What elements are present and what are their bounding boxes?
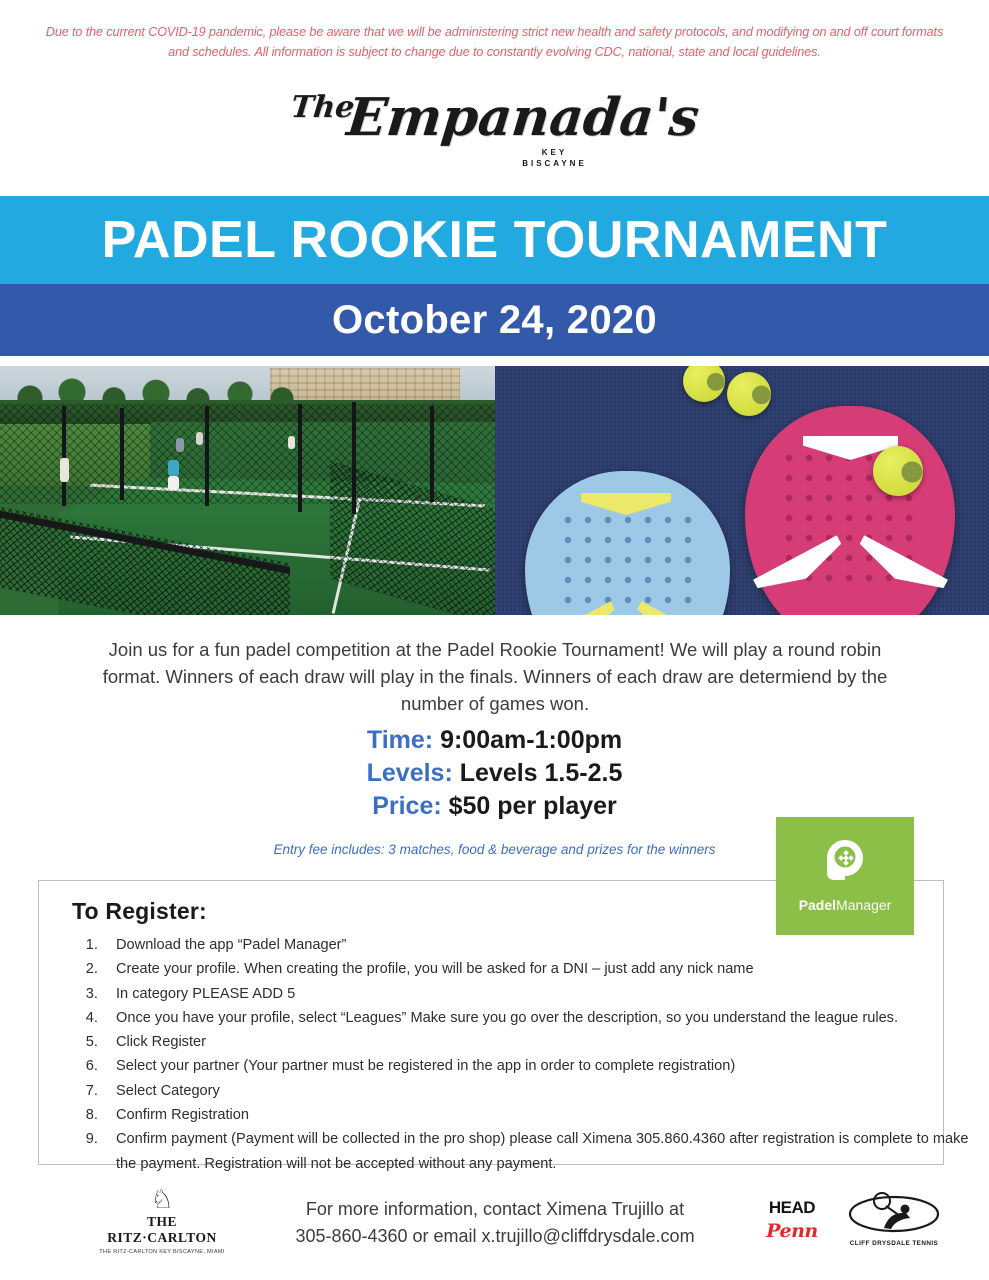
pink-padel-racket xyxy=(745,406,955,615)
list-item: In category PLEASE ADD 5 xyxy=(102,982,982,1006)
tournament-date-banner: October 24, 2020 xyxy=(0,284,989,356)
padel-manager-mark-icon xyxy=(826,839,864,881)
empanadas-logo-biscayne: BISCAYNE xyxy=(522,158,587,169)
tournament-title-banner: PADEL ROOKIE TOURNAMENT xyxy=(0,196,989,284)
detail-time-label: Time: xyxy=(367,726,433,754)
cliff-drysdale-mark-icon xyxy=(848,1192,940,1234)
ritz-carlton-logo: ♘ THE RITZ·CARLTON THE RITZ-CARLTON KEY … xyxy=(92,1186,232,1255)
tennis-ball xyxy=(727,372,771,416)
cliff-drysdale-name: CLIFF DRYSDALE TENNIS xyxy=(840,1240,948,1247)
detail-time: Time: 9:00am-1:00pm xyxy=(0,724,989,757)
player xyxy=(288,436,295,449)
fence-post xyxy=(120,408,124,500)
list-item: Once you have your profile, select “Leag… xyxy=(102,1006,982,1030)
padel-courts-photo xyxy=(0,366,495,615)
photo-strip xyxy=(0,366,989,615)
event-description: Join us for a fun padel competition at t… xyxy=(95,636,895,717)
list-item: Click Register xyxy=(102,1030,982,1054)
head-wordmark: HEAD xyxy=(752,1198,832,1218)
fence-post xyxy=(430,406,434,502)
player xyxy=(196,432,203,445)
detail-price-value: $50 per player xyxy=(449,792,617,820)
ritz-carlton-name: THE RITZ·CARLTON xyxy=(92,1214,232,1246)
empanadas-logo-name: Empanada's xyxy=(344,87,702,148)
contact-info: For more information, contact Ximena Tru… xyxy=(265,1196,725,1250)
event-details: Time: 9:00am-1:00pm Levels: Levels 1.5-2… xyxy=(0,724,989,823)
tennis-ball xyxy=(873,446,923,496)
padel-manager-wordmark: PadelManager xyxy=(776,897,914,913)
list-item: Confirm Registration xyxy=(102,1103,982,1127)
padel-manager-name-light: Manager xyxy=(836,897,891,913)
detail-time-value: 9:00am-1:00pm xyxy=(440,726,622,754)
detail-price-label: Price: xyxy=(372,792,441,820)
list-item: Select Category xyxy=(102,1079,982,1103)
fence-post xyxy=(298,404,302,512)
flyer-page: Due to the current COVID-19 pandemic, pl… xyxy=(0,0,989,1280)
detail-levels: Levels: Levels 1.5-2.5 xyxy=(0,757,989,790)
detail-levels-label: Levels: xyxy=(367,759,453,787)
empanadas-logo-location: KEY BISCAYNE xyxy=(522,147,587,169)
page-title: PADEL ROOKIE TOURNAMENT xyxy=(102,210,888,270)
covid-disclaimer: Due to the current COVID-19 pandemic, pl… xyxy=(40,22,949,62)
event-date: October 24, 2020 xyxy=(332,298,657,343)
racket-holes xyxy=(558,510,697,615)
ritz-carlton-location: THE RITZ-CARLTON KEY BISCAYNE, MIAMI xyxy=(92,1249,232,1255)
empanadas-logo-wordmark: TheEmpanada's xyxy=(287,92,701,144)
empanadas-logo: TheEmpanada's KEY BISCAYNE xyxy=(0,78,989,183)
penn-wordmark: Penn xyxy=(752,1220,832,1242)
padel-manager-logo: PadelManager xyxy=(776,817,914,935)
list-item: Download the app “Padel Manager” xyxy=(102,933,982,957)
fence-post xyxy=(62,406,66,506)
list-item: Confirm payment (Payment will be collect… xyxy=(102,1127,982,1176)
register-heading: To Register: xyxy=(72,898,207,925)
player xyxy=(60,458,69,482)
fence-post xyxy=(352,402,356,514)
empanadas-logo-key: KEY xyxy=(522,147,587,158)
contact-line-2: 305-860-4360 or email x.trujillo@cliffdr… xyxy=(265,1223,725,1250)
padel-manager-name-bold: Padel xyxy=(799,897,836,913)
head-penn-logo: HEAD Penn xyxy=(752,1198,832,1242)
padel-rackets-photo xyxy=(495,366,989,615)
detail-levels-value: Levels 1.5-2.5 xyxy=(460,759,623,787)
register-steps-list: Download the app “Padel Manager” Create … xyxy=(66,933,982,1176)
player xyxy=(168,476,179,490)
footer: ♘ THE RITZ·CARLTON THE RITZ-CARLTON KEY … xyxy=(0,1180,989,1280)
cliff-drysdale-logo: CLIFF DRYSDALE TENNIS xyxy=(840,1192,948,1247)
fence-post xyxy=(205,406,209,506)
contact-line-1: For more information, contact Ximena Tru… xyxy=(265,1196,725,1223)
lion-crest-icon: ♘ xyxy=(92,1186,232,1212)
player xyxy=(176,438,184,452)
list-item: Create your profile. When creating the p… xyxy=(102,957,982,981)
list-item: Select your partner (Your partner must b… xyxy=(102,1054,982,1078)
player xyxy=(168,460,179,476)
